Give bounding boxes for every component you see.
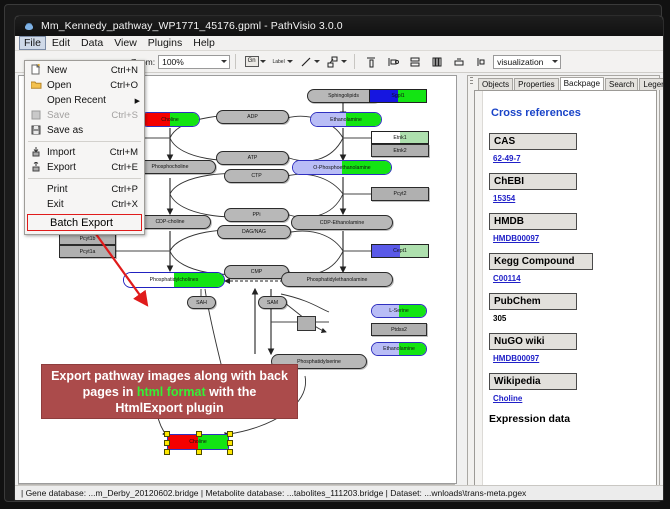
gene-cept1[interactable]: Cept1: [371, 244, 429, 258]
import-icon: [25, 147, 47, 159]
menu-item-open-recent-label: Open Recent: [47, 95, 144, 106]
gene-etnk1[interactable]: Etnk1: [371, 131, 429, 144]
xref-link-wikipedia[interactable]: Choline: [493, 394, 522, 403]
menu-item-import[interactable]: Import Ctrl+M: [25, 145, 144, 160]
menu-help[interactable]: Help: [188, 36, 220, 50]
node-atp[interactable]: ATP: [216, 151, 289, 165]
screenshot-root: Mm_Kennedy_pathway_WP1771_45176.gpml - P…: [0, 0, 670, 509]
xref-source-hmdb: HMDB: [489, 213, 577, 230]
menu-file[interactable]: File: [19, 36, 46, 50]
menu-item-exit[interactable]: Exit Ctrl+X: [25, 197, 144, 212]
zoom-value: 100%: [162, 57, 184, 67]
annotation-callout: Export pathway images along with back pa…: [41, 364, 298, 419]
pathvisio-icon: [24, 21, 35, 32]
menu-item-open-accel: Ctrl+O: [110, 80, 144, 91]
xref-link-nugo[interactable]: HMDB00097: [493, 354, 539, 363]
gene-pcyt2[interactable]: Pcyt2: [371, 187, 429, 201]
resize-handle-sw[interactable]: [164, 449, 170, 455]
node-ctp[interactable]: CTP: [224, 169, 289, 183]
align-top-icon[interactable]: [364, 55, 377, 68]
menu-item-open[interactable]: Open Ctrl+O: [25, 78, 144, 93]
node-label: Choline: [141, 113, 199, 126]
xref-source-wikipedia: Wikipedia: [489, 373, 577, 390]
node-ethanolamine-right[interactable]: Ethanolamine: [371, 342, 427, 356]
menu-item-save-accel: Ctrl+S: [111, 110, 144, 121]
node-ethanolamine-top[interactable]: Ethanolamine: [310, 112, 382, 127]
panel-tabstrip: Objects Properties Backpage Search Legen…: [468, 76, 659, 90]
node-label: Choline: [168, 435, 228, 449]
desktop-frame: Mm_Kennedy_pathway_WP1771_45176.gpml - P…: [4, 4, 662, 502]
node-sah[interactable]: SAH: [187, 296, 216, 309]
xref-link-chebi[interactable]: 15354: [493, 194, 515, 203]
gene-label: Sgpl1: [370, 90, 426, 102]
align-center-icon[interactable]: [408, 55, 421, 68]
side-panel: Objects Properties Backpage Search Legen…: [467, 75, 660, 495]
menu-data[interactable]: Data: [76, 36, 108, 50]
menu-item-save-as[interactable]: Save as: [25, 123, 144, 138]
node-cmp[interactable]: CMP: [224, 265, 289, 279]
menu-item-new[interactable]: New Ctrl+N: [25, 63, 144, 78]
menu-item-import-accel: Ctrl+M: [110, 147, 144, 158]
annotation-line2-b: with the: [206, 385, 257, 399]
save-disk-icon: [25, 110, 47, 122]
menu-item-export[interactable]: Export Ctrl+E: [25, 160, 144, 175]
menu-item-exit-label: Exit: [47, 199, 111, 210]
node-label: O-Phosphoethanolamine: [293, 161, 391, 174]
menu-item-export-label: Export: [47, 162, 111, 173]
menu-item-new-accel: Ctrl+N: [111, 65, 144, 76]
menu-item-save-as-label: Save as: [47, 125, 138, 136]
annotation-highlight: html format: [137, 385, 206, 399]
line-tool-icon[interactable]: [299, 55, 312, 68]
gene-label: Etnk1: [372, 132, 428, 143]
menu-item-batch-export-label: Batch Export: [28, 217, 141, 229]
align-left-icon[interactable]: [386, 55, 399, 68]
toolbar-separator-2: [354, 54, 355, 69]
open-folder-icon: [25, 80, 47, 91]
pathvisio-window: Mm_Kennedy_pathway_WP1771_45176.gpml - P…: [14, 15, 664, 501]
node-cdp-ethanolamine[interactable]: CDP-Ethanolamine: [291, 215, 393, 230]
label-tool-icon[interactable]: Label: [272, 55, 285, 68]
menu-item-save: Save Ctrl+S: [25, 108, 144, 123]
menu-plugins[interactable]: Plugins: [143, 36, 187, 50]
node-phosphatidylethanolamine[interactable]: Phosphatidylethanolamine: [281, 272, 393, 287]
zoom-combobox[interactable]: 100%: [158, 55, 230, 69]
tab-properties[interactable]: Properties: [514, 78, 558, 90]
menu-item-open-recent[interactable]: Open Recent ▶: [25, 93, 144, 108]
shape-tool-icon[interactable]: [326, 55, 339, 68]
export-icon: [25, 162, 47, 174]
geneproduct-tool-icon[interactable]: Gn: [245, 55, 258, 68]
node-ppi[interactable]: PPi: [224, 208, 289, 222]
node-o-phosphoethanolamine[interactable]: O-Phosphoethanolamine: [292, 160, 392, 175]
window-title: Mm_Kennedy_pathway_WP1771_45176.gpml - P…: [41, 20, 343, 32]
xref-source-pubchem: PubChem: [489, 293, 577, 310]
menu-item-batch-export[interactable]: Batch Export: [27, 214, 142, 231]
tab-backpage[interactable]: Backpage: [560, 77, 604, 90]
menu-item-open-label: Open: [47, 80, 110, 91]
menu-item-exit-accel: Ctrl+X: [111, 199, 144, 210]
cross-references-content: Cross references CAS 62-49-7 ChEBI 15354…: [484, 91, 656, 491]
file-menu-popup[interactable]: New Ctrl+N Open Ctrl+O Open Recent ▶ Sav…: [24, 60, 145, 235]
status-text: | Gene database: ...m_Derby_20120602.bri…: [21, 488, 526, 498]
resize-handle-se[interactable]: [227, 449, 233, 455]
menu-separator-2: [28, 178, 141, 179]
menu-item-print-label: Print: [47, 184, 111, 195]
node-adp[interactable]: ADP: [216, 110, 289, 124]
visualization-combobox[interactable]: visualization: [493, 55, 561, 69]
shape-dropdown-icon[interactable]: [341, 60, 347, 63]
node-choline-selected[interactable]: Choline: [167, 434, 229, 450]
node-l-serine[interactable]: L-Serine: [371, 304, 427, 318]
xref-value-pubchem: 305: [493, 314, 650, 323]
distribute-icon[interactable]: [430, 55, 443, 68]
panel-scrollbar[interactable]: [475, 91, 483, 491]
menu-separator-1: [28, 141, 141, 142]
cross-references-heading: Cross references: [491, 107, 650, 119]
expression-data-heading: Expression data: [489, 413, 650, 425]
new-document-icon: [25, 64, 47, 77]
xref-source-nugo: NuGO wiki: [489, 333, 577, 350]
annotation-line3: HtmlExport plugin: [115, 401, 223, 415]
gene-sgpl1[interactable]: Sgpl1: [369, 89, 427, 103]
gene-etnk2[interactable]: Etnk2: [371, 144, 429, 157]
toolbar-separator: [235, 54, 236, 69]
xref-source-cas: CAS: [489, 133, 577, 150]
gene-label: Cept1: [372, 245, 428, 257]
xref-value-kegg[interactable]: C00114: [493, 274, 650, 283]
menu-bar: File Edit Data View Plugins Help: [15, 36, 663, 51]
stack-icon[interactable]: [452, 55, 465, 68]
xref-value-nugo[interactable]: HMDB00097: [493, 354, 650, 363]
resize-handle-s[interactable]: [196, 449, 202, 455]
node-choline-top[interactable]: Choline: [140, 112, 200, 127]
node-label: L-Serine: [372, 305, 426, 317]
node-choline-selected-group[interactable]: Choline: [167, 434, 229, 450]
xref-source-kegg: Kegg Compound: [489, 253, 593, 270]
save-as-disk-icon: [25, 125, 47, 137]
xref-value-wikipedia[interactable]: Choline: [493, 394, 650, 403]
node-label: Ethanolamine: [311, 113, 381, 126]
menu-item-new-label: New: [47, 65, 111, 76]
visualization-value: visualization: [497, 57, 543, 67]
annotation-line2-a: pages in: [83, 385, 137, 399]
xref-link-kegg[interactable]: C00114: [493, 274, 521, 283]
chevron-right-icon: ▶: [135, 97, 140, 105]
gene-ptdss2[interactable]: Ptdss2: [371, 323, 427, 336]
xref-link-cas[interactable]: 62-49-7: [493, 154, 521, 163]
node-label: Ethanolamine: [372, 343, 426, 355]
node-sam[interactable]: SAM: [258, 296, 287, 309]
gene-pcyt1a[interactable]: Pcyt1a: [59, 245, 116, 258]
tab-search[interactable]: Search: [605, 78, 638, 90]
menu-item-export-accel: Ctrl+E: [111, 162, 144, 173]
title-bar: Mm_Kennedy_pathway_WP1771_45176.gpml - P…: [15, 16, 663, 36]
pathway-anchor-block[interactable]: [297, 316, 316, 331]
tab-objects[interactable]: Objects: [478, 78, 513, 90]
xref-value-hmdb[interactable]: HMDB00097: [493, 234, 650, 243]
label-dropdown-icon[interactable]: [287, 60, 293, 63]
menu-item-print-accel: Ctrl+P: [111, 184, 144, 195]
chevron-down-icon-2: [552, 60, 558, 63]
xref-link-hmdb[interactable]: HMDB00097: [493, 234, 539, 243]
backpage-panel: Cross references CAS 62-49-7 ChEBI 15354…: [474, 90, 657, 492]
node-label: Phosphatidylcholines: [124, 273, 224, 287]
menu-view[interactable]: View: [109, 36, 142, 50]
menu-item-print[interactable]: Print Ctrl+P: [25, 182, 144, 197]
xref-value-chebi[interactable]: 15354: [493, 194, 650, 203]
panel-grip-icon[interactable]: [470, 77, 474, 87]
xref-source-chebi: ChEBI: [489, 173, 577, 190]
xref-value-cas[interactable]: 62-49-7: [493, 154, 650, 163]
chevron-down-icon: [221, 60, 227, 63]
node-dag-nag[interactable]: DAG/NAG: [217, 225, 291, 239]
annotation-line1: Export pathway images along with back: [51, 369, 288, 383]
menu-item-save-label: Save: [47, 110, 111, 121]
node-phosphatidylcholines[interactable]: Phosphatidylcholines: [123, 272, 225, 288]
line-dropdown-icon[interactable]: [314, 60, 320, 63]
geneproduct-dropdown-icon[interactable]: [260, 60, 266, 63]
menu-item-import-label: Import: [47, 147, 110, 158]
status-bar: | Gene database: ...m_Derby_20120602.bri…: [15, 485, 663, 500]
group-icon[interactable]: [474, 55, 487, 68]
tab-legend[interactable]: Legend: [639, 78, 664, 90]
menu-edit[interactable]: Edit: [47, 36, 75, 50]
